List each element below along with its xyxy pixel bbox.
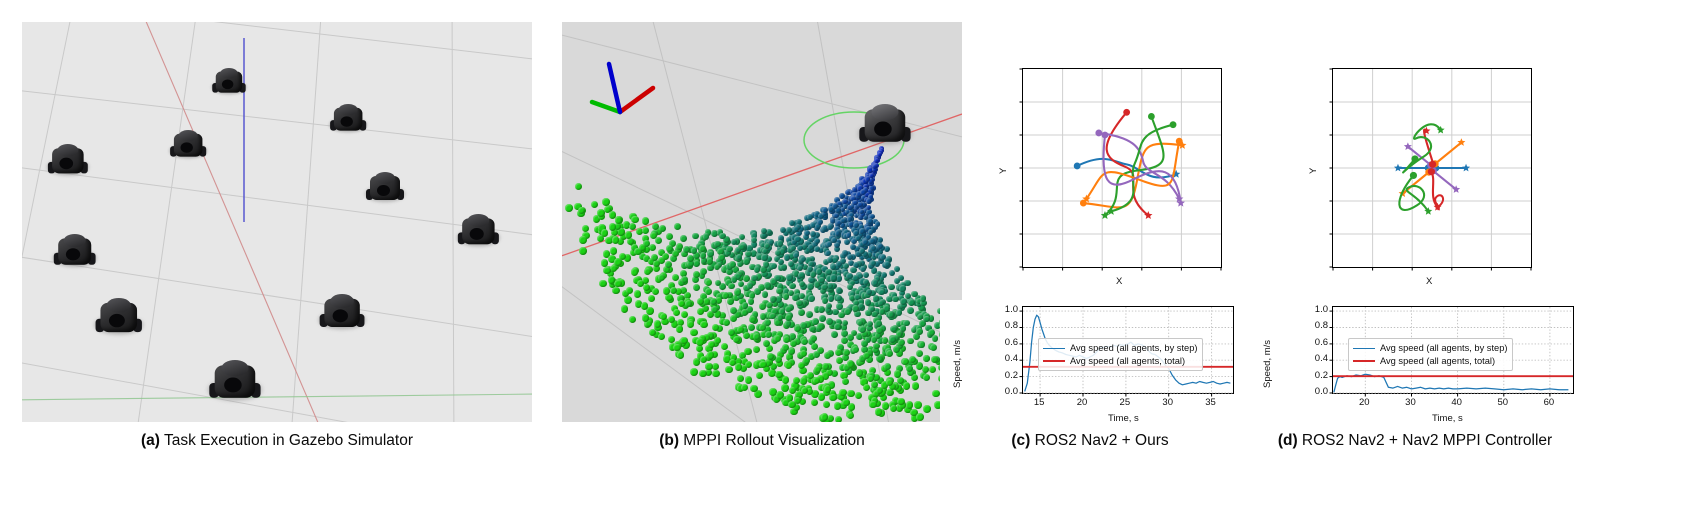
y-tick-label: 0.8	[1304, 320, 1328, 331]
caption-tag-d: (d)	[1278, 432, 1298, 449]
caption-text-a: Task Execution in Gazebo Simulator	[164, 432, 413, 449]
chart-c-legend: Avg speed (all agents, by step) Avg spee…	[1038, 338, 1203, 371]
legend-entry: Avg speed (all agents, total)	[1043, 355, 1197, 368]
panel-a-gazebo-viewport	[22, 22, 532, 422]
y-tick-label: 1.0	[1304, 304, 1328, 315]
y-tick-label: 1.0	[994, 304, 1018, 315]
chart-d-traj-xlabel: X	[1426, 276, 1432, 287]
chart-c-trajectory: Y X	[988, 62, 1228, 297]
start-marker	[1410, 172, 1417, 179]
legend-swatch-line-red	[1043, 360, 1065, 362]
x-tick-label: 60	[1541, 397, 1557, 408]
y-tick-label: 0.6	[994, 337, 1018, 348]
caption-panel-b: (b) MPPI Rollout Visualization	[562, 432, 962, 450]
agent-trajectory	[1435, 142, 1461, 163]
figure-root: (a) Task Execution in Gazebo Simulator	[0, 0, 1707, 505]
x-tick-label: 40	[1449, 397, 1465, 408]
legend-label: Avg speed (all agents, total)	[1380, 355, 1495, 368]
caption-panel-a: (a) Task Execution in Gazebo Simulator	[22, 432, 532, 450]
caption-panel-d: (d) ROS2 Nav2 + Nav2 MPPI Controller	[1250, 432, 1580, 450]
chart-c-traj-ylabel: Y	[998, 168, 1009, 174]
chart-d-legend: Avg speed (all agents, by step) Avg spee…	[1348, 338, 1513, 371]
agent-trajectory	[1431, 172, 1437, 207]
goal-marker	[1394, 164, 1402, 172]
y-tick-label: 0.0	[994, 386, 1018, 397]
goal-marker	[1462, 164, 1470, 172]
y-tick-label: 0.2	[1304, 370, 1328, 381]
caption-tag-a: (a)	[141, 432, 160, 449]
start-marker	[1176, 138, 1183, 145]
chart-d-speed-ylabel: Speed, m/s	[1262, 340, 1273, 388]
start-marker	[1148, 113, 1155, 120]
start-marker	[1102, 132, 1109, 139]
legend-swatch-line-blue	[1043, 348, 1065, 349]
x-tick-label: 35	[1203, 397, 1219, 408]
legend-entry: Avg speed (all agents, by step)	[1043, 342, 1197, 355]
caption-text-d: ROS2 Nav2 + Nav2 MPPI Controller	[1302, 432, 1552, 449]
chart-d-speed: Speed, m/s Time, s Avg speed (all agents…	[1250, 300, 1580, 430]
chart-c-speed-xlabel: Time, s	[1108, 413, 1139, 424]
legend-swatch-line-red	[1353, 360, 1375, 362]
legend-entry: Avg speed (all agents, total)	[1353, 355, 1507, 368]
start-marker	[1074, 163, 1081, 170]
x-tick-label: 20	[1074, 397, 1090, 408]
y-tick-label: 0.4	[1304, 353, 1328, 364]
chart-c-traj-xlabel: X	[1116, 276, 1122, 287]
gridlines	[1023, 69, 1221, 267]
chart-d-speed-xlabel: Time, s	[1432, 413, 1463, 424]
y-tick-label: 0.6	[1304, 337, 1328, 348]
y-tick-label: 0.0	[1304, 386, 1328, 397]
start-marker	[1429, 161, 1436, 168]
legend-label: Avg speed (all agents, by step)	[1380, 342, 1507, 355]
caption-tag-b: (b)	[659, 432, 679, 449]
x-tick-label: 30	[1160, 397, 1176, 408]
start-marker	[1095, 130, 1102, 137]
chart-c-speed: Speed, m/s Time, s Avg speed (all agents…	[940, 300, 1240, 430]
caption-panel-c: (c) ROS2 Nav2 + Ours	[940, 432, 1240, 450]
y-tick-label: 0.4	[994, 353, 1018, 364]
mppi-rollout-canvas	[562, 22, 962, 422]
panel-b-mppi-viewport	[562, 22, 962, 422]
start-marker	[1428, 168, 1435, 175]
start-marker	[1170, 121, 1177, 128]
x-tick-label: 20	[1356, 397, 1372, 408]
x-tick-label: 15	[1031, 397, 1047, 408]
x-tick-label: 25	[1117, 397, 1133, 408]
agent-trajectory	[1433, 171, 1456, 190]
chart-d-trajectory: Y X	[1298, 62, 1538, 297]
legend-swatch-line-blue	[1353, 348, 1375, 349]
legend-label: Avg speed (all agents, total)	[1070, 355, 1185, 368]
caption-text-c: ROS2 Nav2 + Ours	[1035, 432, 1169, 449]
y-tick-label: 0.2	[994, 370, 1018, 381]
legend-entry: Avg speed (all agents, by step)	[1353, 342, 1507, 355]
ax-d-traj-canvas	[1333, 69, 1531, 267]
x-tick-label: 50	[1495, 397, 1511, 408]
start-marker	[1123, 109, 1130, 116]
y-tick-label: 0.8	[994, 320, 1018, 331]
caption-text-b: MPPI Rollout Visualization	[683, 432, 865, 449]
chart-d-traj-ylabel: Y	[1308, 168, 1319, 174]
ax-c-traj-canvas	[1023, 69, 1221, 267]
gazebo-floor-grid	[22, 22, 532, 422]
legend-label: Avg speed (all agents, by step)	[1070, 342, 1197, 355]
x-tick-label: 30	[1402, 397, 1418, 408]
chart-c-speed-ylabel: Speed, m/s	[952, 340, 963, 388]
chart-d-trajectory-axes	[1332, 68, 1532, 268]
caption-tag-c: (c)	[1011, 432, 1030, 449]
chart-c-trajectory-axes	[1022, 68, 1222, 268]
start-marker	[1411, 155, 1418, 162]
